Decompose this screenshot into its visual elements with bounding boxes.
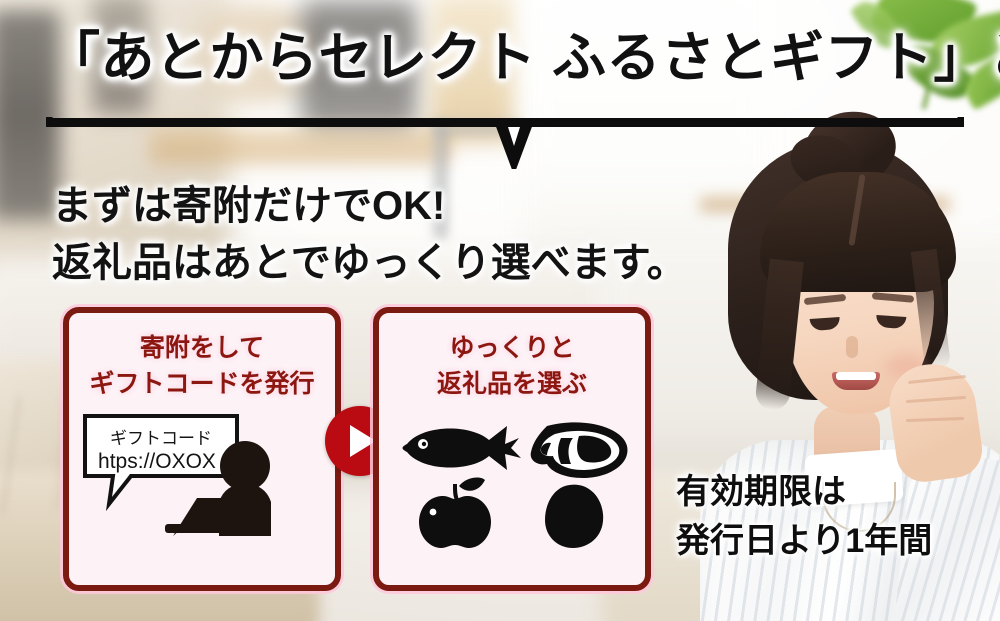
step1-title-line-2: ギフトコードを発行 [69,367,335,403]
meat-icon [531,422,628,478]
expiry-note: 有効期限は 発行日より1年間 [676,468,932,567]
step-card-donate: 寄附をして ギフトコードを発行 ギフトコード htps://OXOX [63,307,341,591]
banner-root: 「あとからセレクト ふるさとギフト」とは まずは寄附だけでOK! 返礼品はあとで… [0,0,1000,621]
step2-title-line-1: ゆっくりと [379,331,645,367]
step2-title-line-2: 返礼品を選ぶ [379,367,645,403]
subtitle-block: まずは寄附だけでOK! 返礼品はあとでゆっくり選べます。 [52,178,687,292]
title-divider [46,113,964,169]
subtitle-line-2: 返礼品はあとでゆっくり選べます。 [52,235,687,292]
step-card-choose-gift-title: ゆっくりと 返礼品を選ぶ [379,331,645,402]
expiry-line-1: 有効期限は [676,468,932,517]
step-card-donate-title: 寄附をして ギフトコードを発行 [69,331,335,402]
apple-icon [419,478,491,548]
step2-illustration [379,408,645,548]
bubble-text-line-2: htps://OXOX [98,450,216,473]
fish-icon [403,426,522,470]
step-card-choose-gift: ゆっくりと 返礼品を選ぶ [373,307,651,591]
step1-illustration: ギフトコード htps://OXOX [69,408,335,548]
expiry-line-2: 発行日より1年間 [676,517,932,566]
bubble-text-line-1: ギフトコード [110,429,212,448]
page-title: 「あとからセレクト ふるさとギフト」とは [46,30,962,87]
mango-icon [545,485,603,548]
subtitle-line-1: まずは寄附だけでOK! [52,178,687,235]
step1-title-line-1: 寄附をして [69,331,335,367]
